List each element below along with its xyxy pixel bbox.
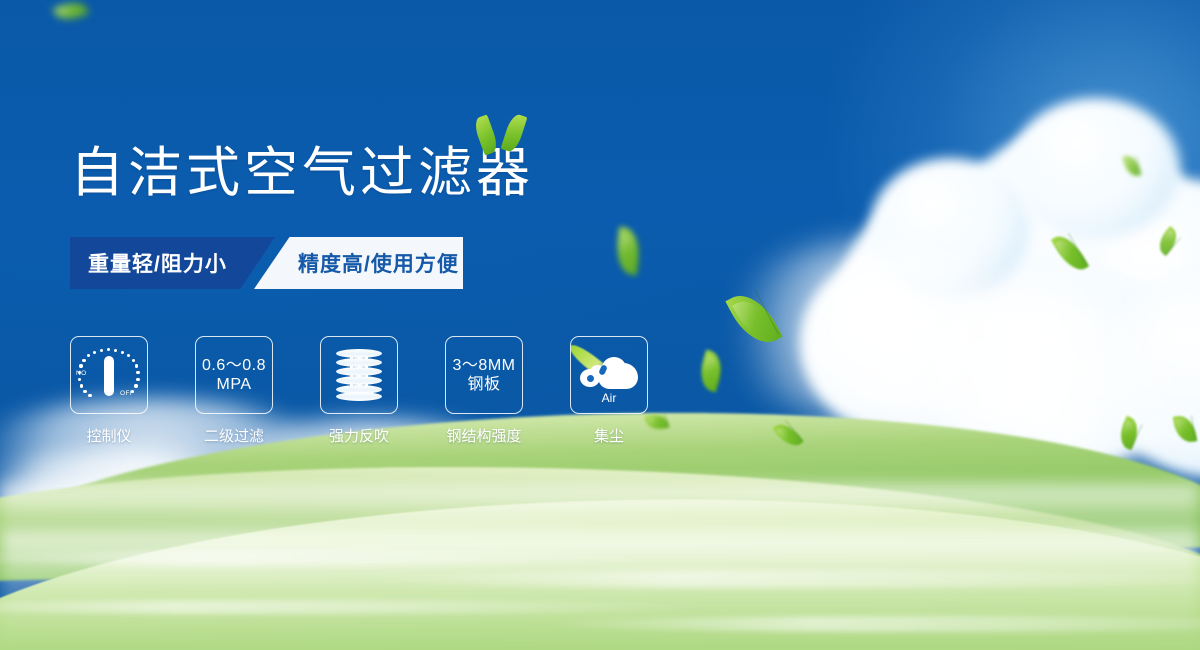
- air-cloud-icon: Air: [578, 349, 640, 401]
- feature-label: 钢结构强度: [446, 425, 521, 446]
- feature-label: 二级过滤: [204, 425, 264, 446]
- pressure-value: 0.6～0.8: [202, 356, 266, 375]
- steel-material: 钢板: [453, 375, 516, 394]
- sprout-leaves-icon: [472, 108, 532, 158]
- feature-item-secondary-filter[interactable]: 0.6～0.8 MPA 二级过滤: [195, 336, 273, 446]
- feature-item-control-dial[interactable]: NO OFF 控制仪: [70, 336, 148, 446]
- feature-icon-box: NO OFF: [70, 336, 148, 414]
- feature-item-steel-strength[interactable]: 3～8MM 钢板 钢结构强度: [445, 336, 523, 446]
- steel-plate-text-icon: 3～8MM 钢板: [453, 356, 516, 394]
- feature-list: NO OFF 控制仪 0.6～0.8 MPA 二级过滤: [70, 336, 648, 446]
- air-label: Air: [578, 391, 640, 405]
- dial-on-label: NO: [76, 370, 87, 377]
- subtitle-left-text: 重量轻/阻力小: [70, 248, 227, 278]
- feature-item-blowback[interactable]: 强力反吹: [320, 336, 398, 446]
- pressure-text-icon: 0.6～0.8 MPA: [202, 356, 266, 394]
- feature-label: 强力反吹: [329, 425, 389, 446]
- feature-icon-box: Air: [570, 336, 648, 414]
- feature-label: 控制仪: [86, 425, 131, 446]
- subtitle-bar: 重量轻/阻力小 精度高/使用方便: [70, 237, 463, 289]
- grass-haze-lower: [0, 530, 1200, 650]
- feature-label: 集尘: [594, 425, 624, 446]
- subtitle-right-text: 精度高/使用方便: [254, 248, 459, 278]
- dial-off-label: OFF: [120, 390, 134, 397]
- coil-blowback-icon: [336, 349, 382, 401]
- subtitle-left-panel: 重量轻/阻力小: [70, 237, 275, 289]
- page-title: 自洁式空气过滤器: [70, 142, 534, 204]
- product-banner: 自洁式空气过滤器 重量轻/阻力小 精度高/使用方便: [0, 0, 1200, 650]
- subtitle-right-panel: 精度高/使用方便: [254, 237, 463, 289]
- feature-item-dust-collection[interactable]: Air 集尘: [570, 336, 648, 446]
- pressure-unit: MPA: [202, 375, 266, 394]
- feature-icon-box: 0.6～0.8 MPA: [195, 336, 273, 414]
- steel-thickness: 3～8MM: [453, 356, 516, 375]
- control-dial-icon: NO OFF: [78, 346, 140, 404]
- feature-icon-box: 3～8MM 钢板: [445, 336, 523, 414]
- dial-needle: [104, 356, 114, 396]
- feature-icon-box: [320, 336, 398, 414]
